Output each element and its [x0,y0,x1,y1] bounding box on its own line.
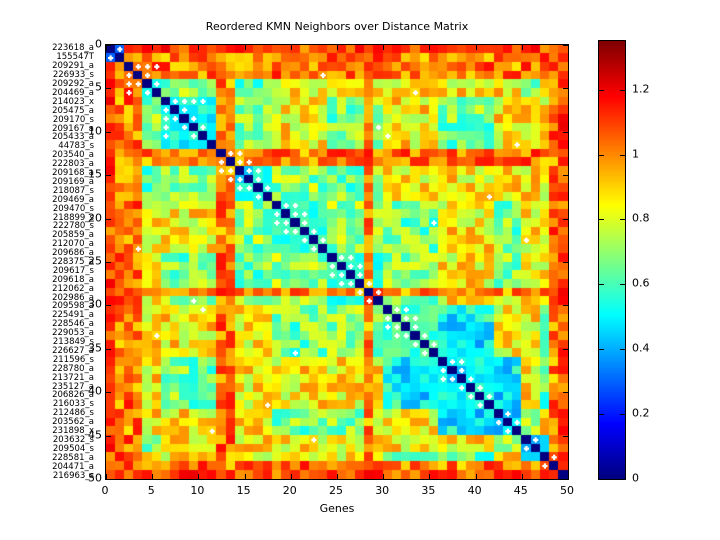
y-axis-tick [106,132,111,133]
x-axis-tick-label: 40 [468,484,482,497]
colorbar-tick [599,90,604,91]
y-axis-tick-label: 30 [82,298,102,311]
y-axis-tick [563,45,568,46]
colorbar-tick [599,284,604,285]
y-axis-tick-label: 0 [82,38,102,51]
colorbar-tick-label: 0.6 [632,277,650,290]
x-axis-tick-label: 5 [148,484,155,497]
y-axis-tick [106,219,111,220]
x-axis-tick-label: 45 [514,484,528,497]
colorbar-tick [620,155,625,156]
x-axis-tick [476,45,477,50]
y-axis-tick [106,262,111,263]
y-axis-tick [106,88,111,89]
y-axis-tick [106,305,111,306]
y-axis-tick-label: 45 [82,428,102,441]
y-axis-tick [106,45,111,46]
colorbar-tick-label: 1 [632,147,639,160]
colorbar-tick [620,219,625,220]
y-axis-tick [563,175,568,176]
x-axis-tick [152,45,153,50]
colorbar[interactable] [598,40,626,480]
y-axis-tick [106,349,111,350]
y-axis-tick-label: 25 [82,255,102,268]
x-axis-label: Genes [105,502,569,515]
x-axis-tick [522,45,523,50]
colorbar-tick-label: 0 [632,472,639,485]
y-axis-tick-label: 15 [82,168,102,181]
x-axis-tick [291,45,292,50]
y-axis-tick-label: 20 [82,211,102,224]
colorbar-tick-label: 0.2 [632,407,650,420]
y-axis-tick [106,392,111,393]
x-axis-tick-label: 15 [237,484,251,497]
colorbar-tick [620,349,625,350]
y-axis-tick [563,479,568,480]
figure-container: Reordered KMN Neighbors over Distance Ma… [0,0,720,540]
y-axis-tick [563,88,568,89]
colorbar-tick [620,90,625,91]
y-axis-tick [106,175,111,176]
x-axis-tick-label: 20 [283,484,297,497]
x-axis-tick [245,45,246,50]
x-axis-tick [568,45,569,50]
colorbar-tick [620,284,625,285]
x-axis-tick [152,474,153,479]
colorbar-tick [599,479,604,480]
y-axis-tick-label: 50 [82,472,102,485]
x-axis-tick [291,474,292,479]
x-axis-tick-label: 50 [560,484,574,497]
y-axis-tick-label: 10 [82,124,102,137]
y-axis-tick [106,436,111,437]
x-axis-tick [337,45,338,50]
x-axis-tick [337,474,338,479]
x-axis-tick [568,474,569,479]
y-axis-tick [563,219,568,220]
colorbar-tick-label: 0.4 [632,342,650,355]
y-axis-tick [563,132,568,133]
x-axis-tick [245,474,246,479]
colorbar-tick [599,349,604,350]
y-axis-tick [563,349,568,350]
x-axis-tick [198,474,199,479]
y-axis-tick-label: 40 [82,385,102,398]
x-axis-tick-label: 10 [190,484,204,497]
colorbar-tick-label: 0.8 [632,212,650,225]
x-axis-tick [476,474,477,479]
y-axis-tick [563,436,568,437]
x-axis-tick [198,45,199,50]
heatmap-axes[interactable] [105,44,569,480]
y-axis-tick [563,305,568,306]
x-axis-tick [429,45,430,50]
y-axis-tick [106,479,111,480]
y-axis-tick [563,262,568,263]
x-axis-tick-label: 0 [102,484,109,497]
x-axis-tick [383,474,384,479]
x-axis-tick [429,474,430,479]
y-axis-tick-label: 35 [82,341,102,354]
colorbar-tick [620,414,625,415]
colorbar-tick [599,219,604,220]
x-axis-tick-label: 30 [375,484,389,497]
colorbar-tick [620,479,625,480]
y-axis-tick [563,392,568,393]
chart-title: Reordered KMN Neighbors over Distance Ma… [105,20,569,33]
colorbar-tick [599,155,604,156]
colorbar-tick-label: 1.2 [632,82,650,95]
x-axis-tick-label: 25 [329,484,343,497]
x-axis-tick-label: 35 [421,484,435,497]
x-axis-tick [383,45,384,50]
y-axis-tick-label: 5 [82,81,102,94]
x-axis-tick [522,474,523,479]
distance-matrix-heatmap [106,45,568,479]
colorbar-tick [599,414,604,415]
